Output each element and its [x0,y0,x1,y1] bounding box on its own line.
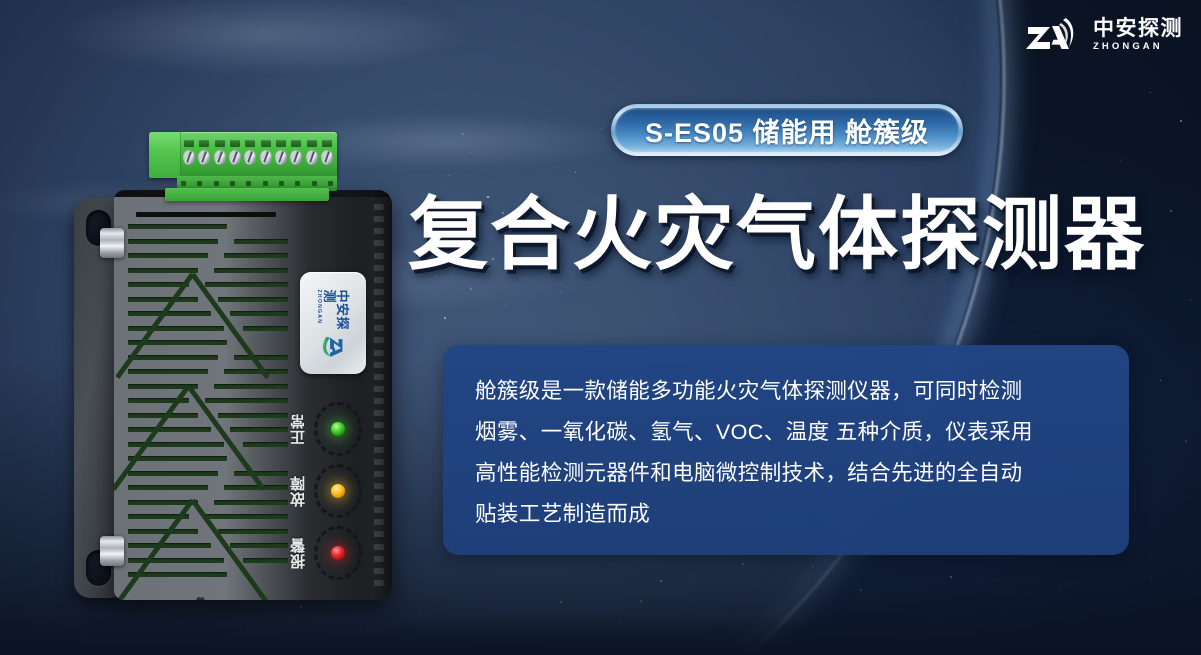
vent-slot [128,471,218,476]
vent-slot [214,500,288,505]
grille-top-bar [136,212,276,217]
product-banner: 中安探测 ZHONGAN S-ES05 储能用 舱簇级 复合火灾气体探测器 舱簇… [0,0,1201,655]
model-badge-inner: S-ES05 储能用 舱簇级 [615,108,959,152]
terminal-wire-slot [184,140,194,147]
terminal-screw [183,140,195,165]
product-label-name-en: ZHONGAN [317,289,322,324]
terminal-screw [260,140,272,165]
vent-slot [214,268,288,273]
vent-slot [218,297,288,302]
terminal-wire-slot [215,140,225,147]
vent-slot [128,558,224,563]
vent-slot [230,311,288,316]
vent-slot [128,326,224,331]
description-line: 高性能检测元器件和电脑微控制技术，结合先进的全自动 [475,453,1099,494]
led-label-alarm: 报警 [288,537,306,569]
vent-slot [128,311,211,316]
vent-slot [243,558,288,563]
terminal-screw-head [306,150,318,165]
vent-slot [128,427,211,432]
product-label-logo: 中安探测 ZHONGAN [317,289,350,357]
terminal-wire-slot [230,140,240,147]
terminal-screw-head [275,150,287,165]
vent-slot [128,369,208,374]
led-dot-alarm [331,546,345,560]
terminal-pin [214,181,219,186]
vent-slot [243,326,288,331]
terminal-screw-head [198,150,210,165]
terminal-screw-head [290,150,302,165]
description-line: 烟雾、一氧化碳、氢气、VOC、温度 五种介质，仪表采用 [475,412,1099,453]
standoff-spacer [100,536,124,566]
vent-slot [234,355,288,360]
vent-slot [243,442,288,447]
terminal-screw [290,140,302,165]
ventilation-grille [128,218,288,590]
terminal-wire-slot [276,140,286,147]
vent-slot [128,543,211,548]
product-label-text: 中安探测 ZHONGAN [317,289,350,331]
terminal-pin [197,181,202,186]
led-indicator-group: 正常 故障 报警 [288,402,384,592]
led-label-normal: 正常 [288,413,306,445]
description-line: 贴装工艺制造而成 [475,494,1099,535]
terminal-lower-rail [165,188,329,201]
terminal-pin [295,181,300,186]
vent-slot [224,485,288,490]
terminal-screw-head [260,150,272,165]
terminal-wire-slot [261,140,271,147]
vent-slot [234,471,288,476]
led-ring-alarm [314,526,362,580]
terminal-screw [244,140,256,165]
brand-name-en: ZHONGAN [1093,42,1163,52]
za-swoosh-logo-icon [1022,14,1084,56]
led-dot-fault [331,484,345,498]
vent-slot [128,297,198,302]
led-label-fault: 故障 [288,475,306,507]
terminal-screw-head [244,150,256,165]
model-badge: S-ES05 储能用 舱簇级 [611,104,963,156]
terminal-wire-slot [199,140,209,147]
vent-slot [218,529,288,534]
vent-slot [234,239,288,244]
terminal-wire-slot [307,140,317,147]
terminal-block [149,128,337,206]
vent-slot [205,398,288,403]
vent-slot [230,543,288,548]
led-indicator-alarm: 报警 [288,526,384,580]
model-badge-text: S-ES05 储能用 舱簇级 [645,111,929,150]
product-label: 中安探测 ZHONGAN [300,272,366,374]
description-panel: 舱簇级是一款储能多功能火灾气体探测仪器，可同时检测 烟雾、一氧化碳、氢气、VOC… [443,345,1129,555]
description-line: 舱簇级是一款储能多功能火灾气体探测仪器，可同时检测 [475,371,1099,412]
terminal-screw-row [183,140,333,165]
led-indicator-normal: 正常 [288,402,384,456]
terminal-pin [230,181,235,186]
led-indicator-fault: 故障 [288,464,384,518]
vent-slot [128,268,198,273]
terminal-screw-head [214,150,226,165]
terminal-screw-head [183,150,195,165]
vent-slot [224,369,288,374]
led-ring-normal [314,402,362,456]
vent-slot [218,413,288,418]
terminal-screw [214,140,226,165]
vent-slot [128,529,198,534]
terminal-screw [306,140,318,165]
terminal-wire-slot [322,140,332,147]
vent-slot [128,253,208,258]
vent-slot [230,427,288,432]
terminal-screw-head [229,150,241,165]
terminal-pin [263,181,268,186]
led-dot-normal [331,422,345,436]
terminal-screw [229,140,241,165]
product-device-image: 中安探测 ZHONGAN 正常 [62,128,392,608]
vent-slot [128,224,227,229]
led-ring-fault [314,464,362,518]
vent-slot [224,253,288,258]
terminal-pin [181,181,186,186]
terminal-pin [328,181,333,186]
vent-slot [205,282,288,287]
brand-name-cn: 中安探测 [1093,18,1183,39]
vent-slot [214,384,288,389]
device-enclosure: 中安探测 ZHONGAN 正常 [114,190,392,600]
terminal-screw [198,140,210,165]
terminal-screw-head [321,150,333,165]
vent-slot [128,485,208,490]
page-title: 复合火灾气体探测器 [408,193,1198,276]
vent-slot [128,239,218,244]
vent-slot [128,456,227,461]
brand-text: 中安探测 ZHONGAN [1093,18,1183,52]
standoff-spacer [100,228,124,258]
terminal-screw [321,140,333,165]
terminal-pin [246,181,251,186]
terminal-pin [279,181,284,186]
vent-slot [205,514,288,519]
vent-slot [128,572,227,577]
brand-logo: 中安探测 ZHONGAN [1022,12,1183,58]
terminal-wire-slot [291,140,301,147]
vent-chevron [123,597,202,600]
terminal-screw [275,140,287,165]
vent-slot [128,355,218,360]
za-swoosh-logo-icon [318,334,348,357]
product-label-name-cn: 中安探测 [323,289,349,331]
terminal-side-cap [149,132,181,178]
terminal-pin [312,181,317,186]
terminal-wire-slot [245,140,255,147]
